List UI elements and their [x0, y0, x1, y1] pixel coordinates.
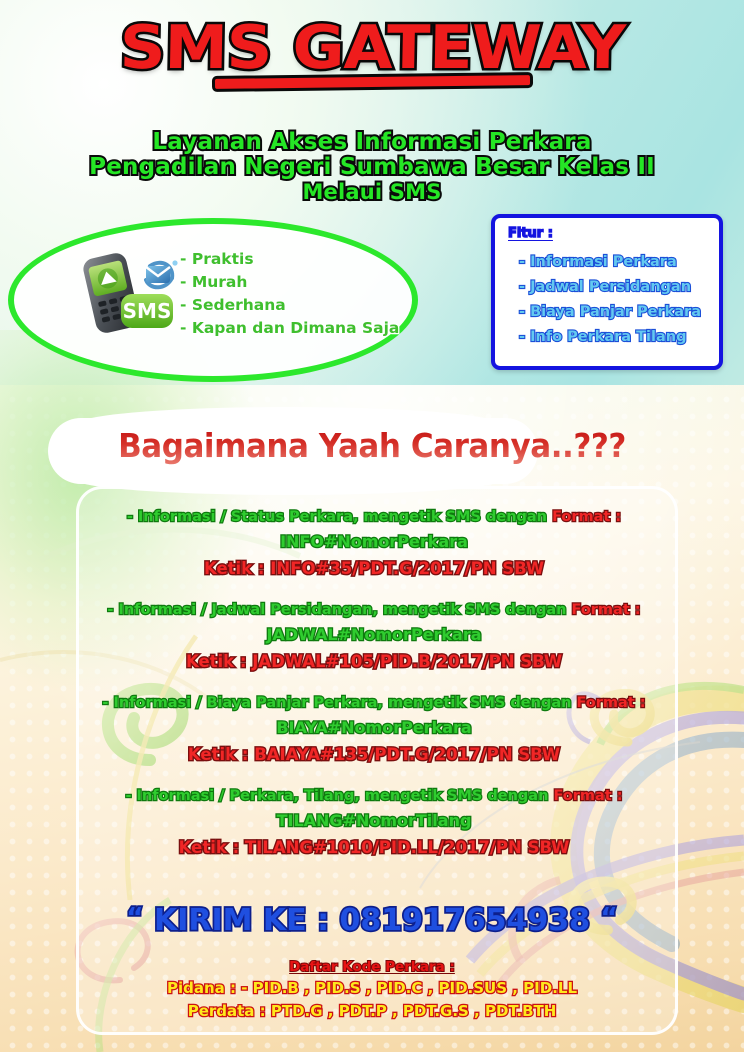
sms-phone-icon: SMS	[76, 248, 180, 338]
format-block: - Informasi / Status Perkara, mengetik S…	[76, 505, 672, 582]
subtitle-line-2: Pengadilan Negeri Sumbawa Besar Kelas II	[0, 155, 744, 180]
fitur-item: - Info Perkara Tilang	[519, 325, 701, 350]
fitur-item: - Informasi Perkara	[519, 250, 701, 275]
format-syntax: TILANG#NomorTilang	[76, 808, 672, 834]
format-block-description-text: - Informasi / Status Perkara, mengetik S…	[127, 509, 552, 525]
format-example: Ketik : INFO#35/PDT.G/2017/PN SBW	[76, 555, 672, 582]
format-block: - Informasi / Biaya Panjar Perkara, meng…	[76, 691, 672, 768]
poster-subtitle: Layanan Akses Informasi Perkara Pengadil…	[0, 130, 744, 205]
quote-open: “	[126, 903, 143, 933]
subtitle-line-3: Melaui SMS	[0, 180, 744, 205]
quote-close: “	[601, 903, 618, 933]
fitur-item: - Jadwal Persidangan	[519, 275, 701, 300]
fitur-list: - Informasi Perkara - Jadwal Persidangan…	[519, 250, 701, 350]
case-code-title: Daftar Kode Perkara :	[0, 958, 744, 977]
sms-badge: SMS	[121, 294, 173, 328]
envelope-icon	[146, 260, 178, 287]
format-syntax: INFO#NomorPerkara	[76, 529, 672, 555]
subtitle-line-1: Layanan Akses Informasi Perkara	[0, 130, 744, 155]
format-block-description: - Informasi / Perkara, Tilang, mengetik …	[76, 784, 672, 808]
banner-heading: Bagaimana Yaah Caranya..???	[22, 426, 721, 465]
benefit-item: - Praktis	[180, 248, 410, 271]
svg-text:SMS: SMS	[123, 299, 172, 323]
poster: SMS GATEWAY Layanan Akses Informasi Perk…	[0, 0, 744, 1052]
format-block-description-text: - Informasi / Perkara, Tilang, mengetik …	[125, 788, 553, 804]
format-syntax: BIAYA#NomorPerkara	[76, 715, 672, 741]
format-syntax: JADWAL#NomorPerkara	[76, 622, 672, 648]
case-code-perdata: Perdata : PTD.G , PDT.P , PDT.G.S , PDT.…	[0, 1000, 744, 1023]
case-code-footer: Daftar Kode Perkara : Pidana : - PID.B ,…	[0, 958, 744, 1023]
fitur-item: - Biaya Panjar Perkara	[519, 300, 701, 325]
format-block: - Informasi / Jadwal Persidangan, menget…	[76, 598, 672, 675]
benefits-list: - Praktis - Murah - Sederhana - Kapan da…	[180, 248, 410, 340]
benefit-item: - Murah	[180, 271, 410, 294]
fitur-title: Fitur :	[508, 226, 553, 241]
format-block-description: - Informasi / Status Perkara, mengetik S…	[76, 505, 672, 529]
format-block: - Informasi / Perkara, Tilang, mengetik …	[76, 784, 672, 861]
format-instruction-list: - Informasi / Status Perkara, mengetik S…	[76, 505, 672, 877]
poster-title-block: SMS GATEWAY	[0, 16, 744, 90]
format-block-description-text: - Informasi / Jadwal Persidangan, menget…	[107, 602, 571, 618]
format-label: Format :	[576, 695, 645, 711]
send-to-number-text: KIRIM KE : 081917654938	[154, 903, 590, 938]
format-example: Ketik : BAIAYA#135/PDT.G/2017/PN SBW	[76, 741, 672, 768]
format-block-description: - Informasi / Biaya Panjar Perkara, meng…	[76, 691, 672, 715]
send-to-number: “ KIRIM KE : 081917654938 “	[0, 903, 744, 938]
format-label: Format :	[552, 509, 621, 525]
format-block-description: - Informasi / Jadwal Persidangan, menget…	[76, 598, 672, 622]
format-example: Ketik : JADWAL#105/PID.B/2017/PN SBW	[76, 648, 672, 675]
benefit-item: - Sederhana	[180, 294, 410, 317]
fitur-box: Fitur : - Informasi Perkara - Jadwal Per…	[491, 214, 723, 370]
case-code-pidana: Pidana : - PID.B , PID.S , PID.C , PID.S…	[0, 977, 744, 1000]
title-underline-bar	[211, 72, 532, 92]
benefit-item: - Kapan dan Dimana Saja	[180, 317, 410, 340]
format-label: Format :	[553, 788, 622, 804]
format-block-description-text: - Informasi / Biaya Panjar Perkara, meng…	[102, 695, 576, 711]
page-title: SMS GATEWAY	[119, 16, 625, 80]
format-example: Ketik : TILANG#1010/PID.LL/2017/PN SBW	[76, 834, 672, 861]
format-label: Format :	[572, 602, 641, 618]
